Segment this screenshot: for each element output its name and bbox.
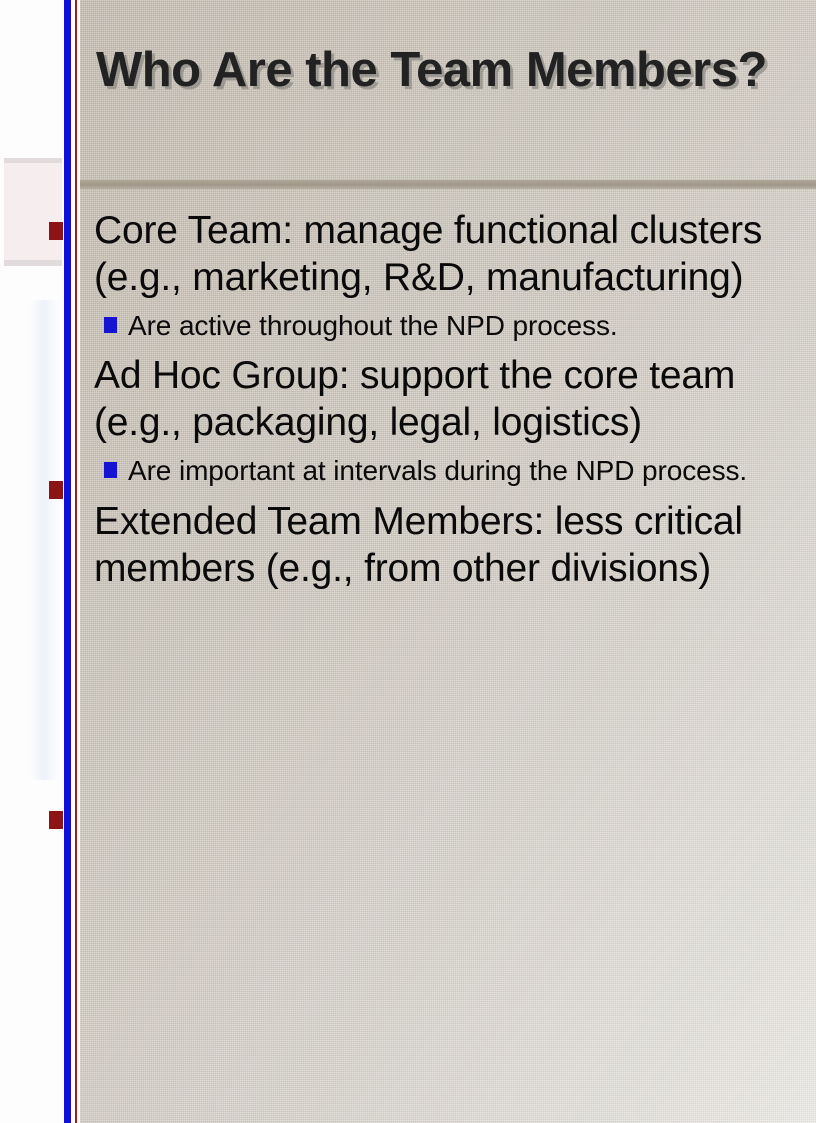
bullet-level1-extended-team: Extended Team Members: less critical mem… (80, 499, 816, 593)
bullet-level1-ad-hoc-group: Ad Hoc Group: support the core team (e.g… (80, 353, 816, 447)
slide-body: Core Team: manage functional clusters (e… (80, 208, 816, 596)
title-divider (80, 180, 816, 189)
blue-vertical-rule (64, 0, 71, 1123)
slide-page: Who Are the Team Members? Core Team: man… (0, 0, 816, 1123)
slide-title: Who Are the Team Members? (96, 46, 796, 95)
bullet-marker-red-1 (49, 222, 63, 240)
bullet-level2-ad-hoc-note: Are important at intervals during the NP… (80, 453, 816, 489)
scan-artifact-ghost-table (4, 158, 62, 266)
bullet-level2-text: Are active throughout the NPD process. (128, 310, 618, 341)
red-vertical-rule (75, 0, 77, 1123)
scan-left-margin (0, 0, 66, 1123)
bullet-marker-red-3 (49, 811, 63, 829)
blue-square-icon (104, 317, 117, 333)
bullet-marker-red-2 (49, 481, 63, 499)
bullet-level2-core-team-note: Are active throughout the NPD process. (80, 308, 816, 344)
blue-square-icon (104, 462, 117, 478)
scan-artifact-streak (30, 300, 60, 780)
slide-canvas: Who Are the Team Members? Core Team: man… (80, 0, 816, 1123)
bullet-level1-core-team: Core Team: manage functional clusters (e… (80, 208, 816, 302)
bullet-level2-text: Are important at intervals during the NP… (128, 455, 747, 486)
